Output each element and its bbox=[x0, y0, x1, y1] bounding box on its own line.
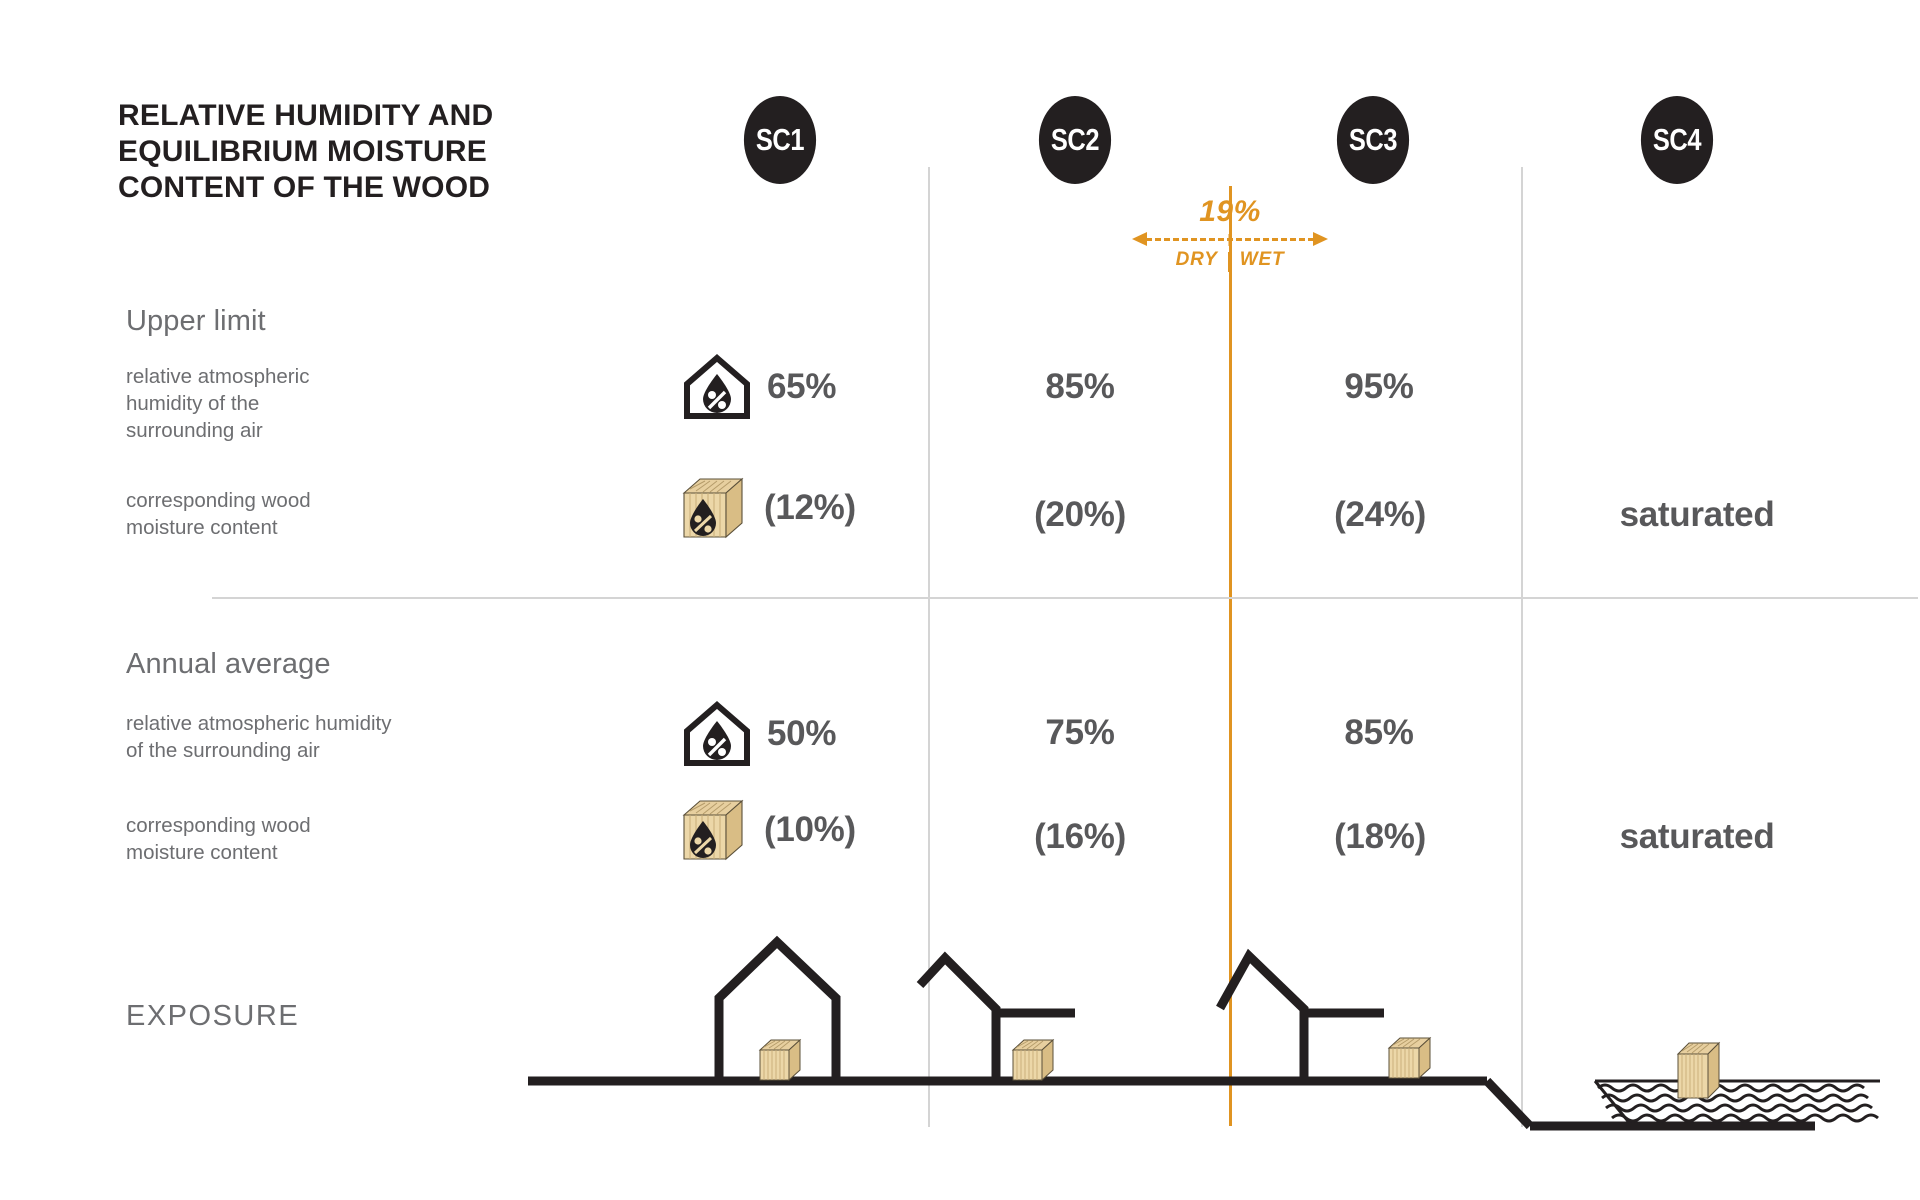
wood-block-sc2 bbox=[1013, 1040, 1053, 1080]
badge-sc2[interactable]: SC2 bbox=[1039, 96, 1111, 184]
row-label-annual-average-wood-moisture: corresponding wood moisture content bbox=[126, 812, 446, 866]
exposure-diagram bbox=[0, 930, 1920, 1140]
cell-upper-limit-rh-sc1: 65% bbox=[683, 353, 836, 421]
annotation-arrow bbox=[1130, 230, 1330, 248]
value-upper-limit-rh-sc1: 65% bbox=[767, 367, 836, 407]
value-annual-average-wmc-sc4: saturated bbox=[1567, 817, 1827, 857]
dry-wet-labels: DRY WET bbox=[1130, 249, 1330, 271]
wood-block-sc3 bbox=[1389, 1038, 1430, 1078]
page-title: RELATIVE HUMIDITY AND EQUILIBRIUM MOISTU… bbox=[118, 98, 638, 206]
value-upper-limit-wmc-sc3: (24%) bbox=[1290, 495, 1470, 535]
row-label-annual-average-relative-humidity: relative atmospheric humidity of the sur… bbox=[126, 710, 546, 764]
badge-sc4[interactable]: SC4 bbox=[1641, 96, 1713, 184]
page-title-line-3: CONTENT OF THE WOOD bbox=[118, 170, 638, 206]
badge-sc4-label: SC4 bbox=[1653, 122, 1701, 158]
wet-label: WET bbox=[1240, 249, 1285, 271]
wood-block-humidity-icon bbox=[676, 797, 748, 863]
value-annual-average-rh-sc1: 50% bbox=[767, 714, 836, 754]
wood-block-sc4 bbox=[1678, 1043, 1719, 1098]
page-title-line-2: EQUILIBRIUM MOISTURE bbox=[118, 134, 638, 170]
house-humidity-icon bbox=[683, 700, 751, 768]
badge-sc3[interactable]: SC3 bbox=[1337, 96, 1409, 184]
dry-wet-annotation: 19% DRY WET bbox=[1130, 196, 1330, 271]
exposure-scene-sc4 bbox=[1595, 1043, 1880, 1126]
dry-wet-separator-icon bbox=[1228, 252, 1230, 272]
infographic-root: RELATIVE HUMIDITY AND EQUILIBRIUM MOISTU… bbox=[0, 0, 1920, 1200]
cell-upper-limit-wmc-sc1: (12%) bbox=[676, 475, 856, 541]
cell-annual-average-wmc-sc1: (10%) bbox=[676, 797, 856, 863]
row-label-upper-limit-relative-humidity: relative atmospheric humidity of the sur… bbox=[126, 363, 426, 444]
wood-block-humidity-icon bbox=[676, 475, 748, 541]
arrow-head-left-icon bbox=[1132, 232, 1147, 246]
value-annual-average-wmc-sc2: (16%) bbox=[990, 817, 1170, 857]
dry-label: DRY bbox=[1176, 249, 1218, 271]
value-upper-limit-rh-sc3: 95% bbox=[1299, 367, 1459, 407]
value-upper-limit-rh-sc2: 85% bbox=[1000, 367, 1160, 407]
value-upper-limit-wmc-sc4: saturated bbox=[1567, 495, 1827, 535]
annotation-value: 19% bbox=[1130, 196, 1330, 228]
value-annual-average-wmc-sc1: (10%) bbox=[764, 810, 856, 850]
cell-annual-average-rh-sc1: 50% bbox=[683, 700, 836, 768]
badge-sc2-label: SC2 bbox=[1051, 122, 1099, 158]
arrow-center-tick bbox=[1229, 234, 1232, 246]
wood-block-sc1 bbox=[760, 1040, 800, 1080]
value-annual-average-rh-sc2: 75% bbox=[1000, 713, 1160, 753]
house-humidity-icon bbox=[683, 353, 751, 421]
row-label-upper-limit-wood-moisture: corresponding wood moisture content bbox=[126, 487, 426, 541]
exposure-scene-sc3 bbox=[1220, 956, 1384, 1081]
section-heading-annual-average: Annual average bbox=[126, 648, 331, 681]
badge-sc1[interactable]: SC1 bbox=[744, 96, 816, 184]
badge-sc1-label: SC1 bbox=[756, 122, 804, 158]
arrow-head-right-icon bbox=[1313, 232, 1328, 246]
value-upper-limit-wmc-sc2: (20%) bbox=[990, 495, 1170, 535]
section-divider bbox=[212, 597, 1918, 599]
value-upper-limit-wmc-sc1: (12%) bbox=[764, 488, 856, 528]
value-annual-average-rh-sc3: 85% bbox=[1299, 713, 1459, 753]
section-heading-upper-limit: Upper limit bbox=[126, 305, 266, 338]
badge-sc3-label: SC3 bbox=[1349, 122, 1397, 158]
value-annual-average-wmc-sc3: (18%) bbox=[1290, 817, 1470, 857]
page-title-line-1: RELATIVE HUMIDITY AND bbox=[118, 98, 638, 134]
